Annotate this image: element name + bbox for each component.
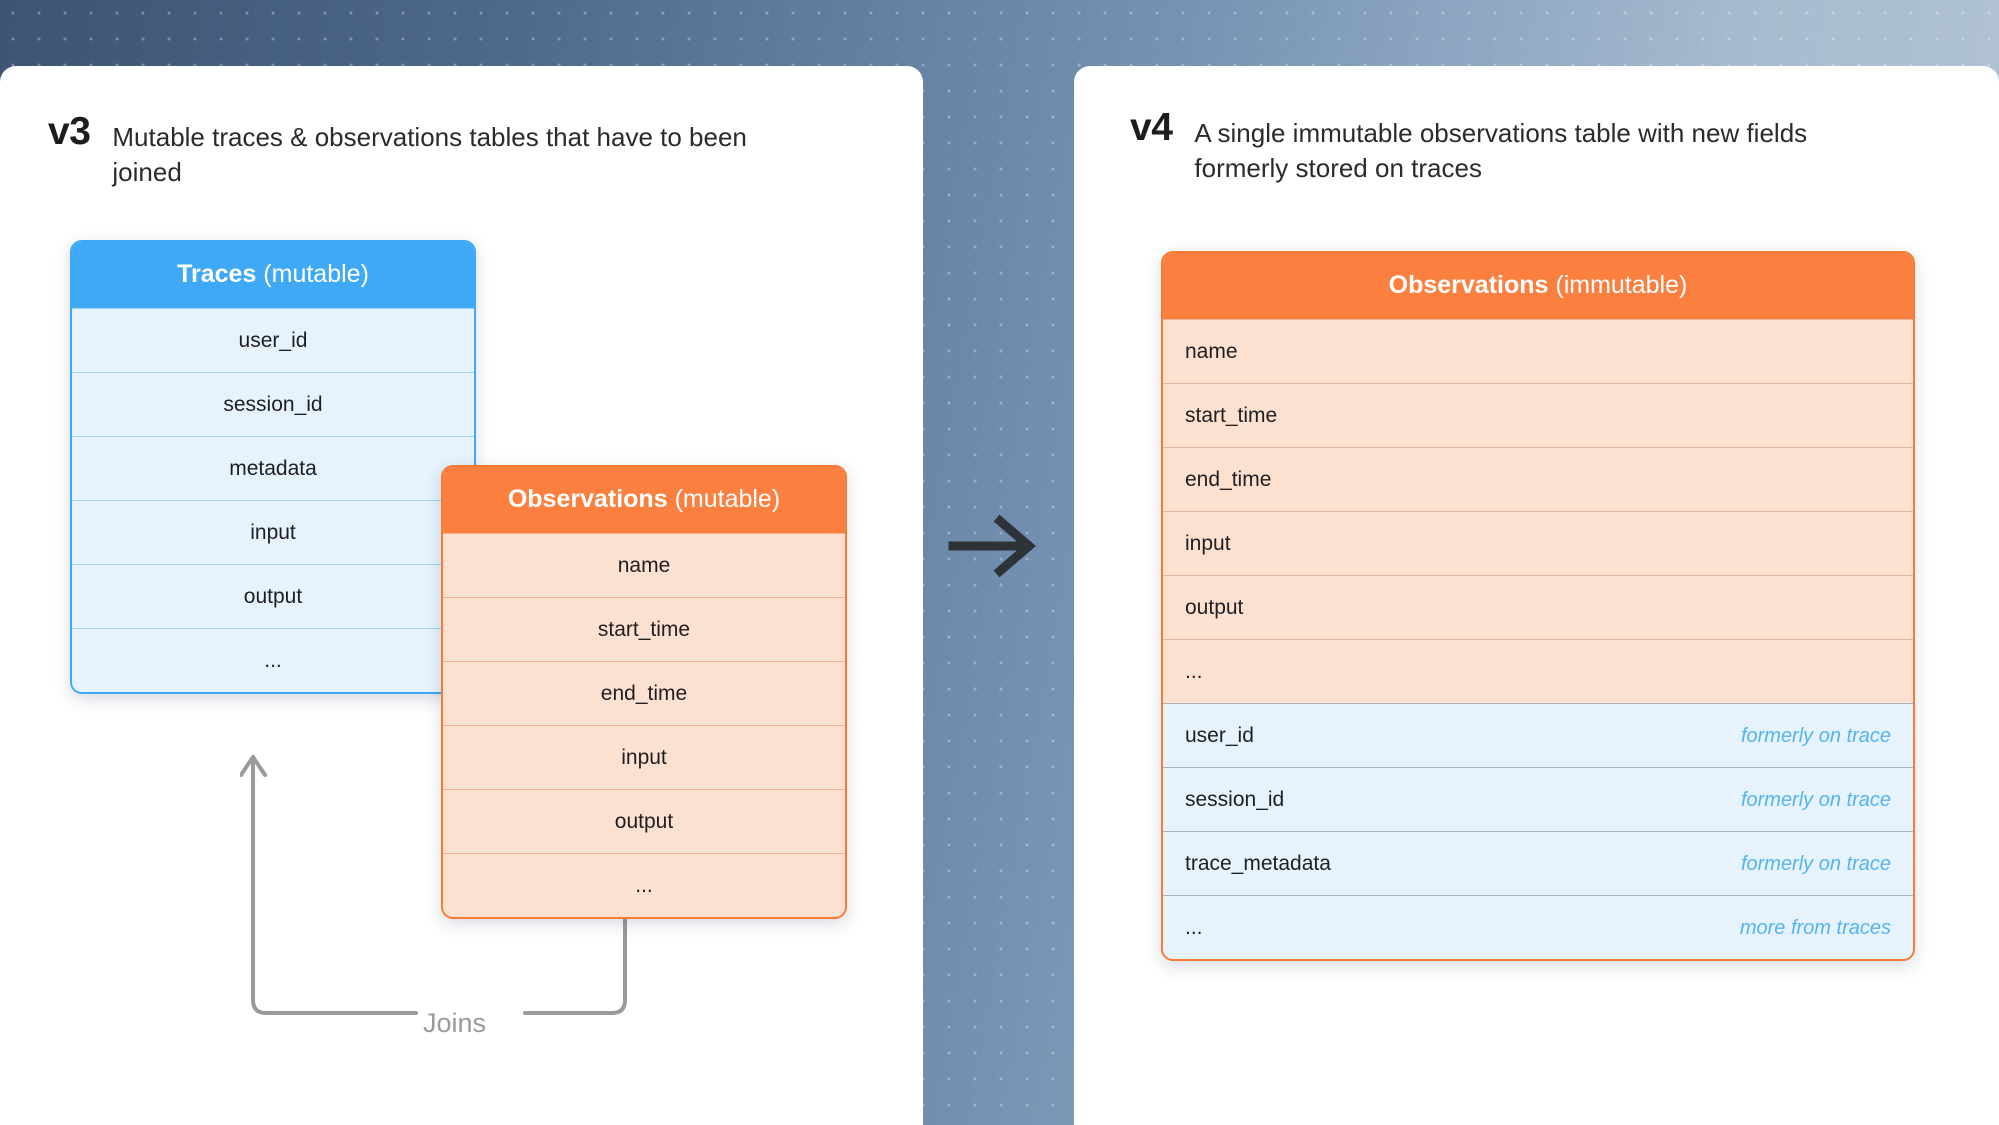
field-name: ...	[1185, 917, 1203, 938]
field-note: formerly on trace	[1741, 854, 1891, 874]
table-row: input	[1163, 511, 1913, 575]
table-row: output	[443, 789, 845, 853]
traces-table-title: Traces	[177, 260, 256, 288]
traces-table-mutability: (mutable)	[263, 260, 369, 288]
field-note: more from traces	[1740, 918, 1891, 938]
field-name: session_id	[1185, 789, 1284, 810]
table-row: name	[443, 533, 845, 597]
table-row: ...	[1163, 639, 1913, 703]
field-name: trace_metadata	[1185, 853, 1331, 874]
joins-left-line	[253, 757, 416, 1013]
v4-description: A single immutable observations table wi…	[1194, 108, 1894, 185]
observations-immutable-mutability: (immutable)	[1555, 271, 1687, 299]
v3-heading: v3 Mutable traces & observations tables …	[48, 112, 812, 189]
observations-mutable-table: Observations (mutable) name start_time e…	[441, 465, 847, 919]
observations-mutable-header: Observations (mutable)	[443, 467, 845, 533]
table-row: session_id	[72, 372, 474, 436]
observations-mutable-mutability: (mutable)	[675, 485, 781, 513]
table-row: user_id	[72, 308, 474, 372]
traces-table-header: Traces (mutable)	[72, 242, 474, 308]
table-row: ...	[72, 628, 474, 692]
v3-version-tag: v3	[48, 112, 90, 151]
field-name: end_time	[1185, 469, 1271, 490]
table-row: name	[1163, 319, 1913, 383]
v3-description: Mutable traces & observations tables tha…	[112, 112, 812, 189]
observations-mutable-title: Observations	[508, 485, 668, 513]
table-row: ...	[443, 853, 845, 917]
joins-label: Joins	[423, 1010, 486, 1037]
v4-version-tag: v4	[1130, 108, 1172, 147]
field-name: name	[1185, 341, 1238, 362]
field-note: formerly on trace	[1741, 726, 1891, 746]
table-row: output	[72, 564, 474, 628]
field-name: input	[1185, 533, 1231, 554]
arrow-right-icon	[945, 513, 1041, 579]
table-row: start_time	[443, 597, 845, 661]
observations-immutable-title: Observations	[1389, 271, 1549, 299]
table-row: end_time	[443, 661, 845, 725]
field-name: ...	[1185, 661, 1203, 682]
field-name: start_time	[1185, 405, 1277, 426]
v4-heading: v4 A single immutable observations table…	[1130, 108, 1894, 185]
field-name: user_id	[1185, 725, 1254, 746]
field-note: formerly on trace	[1741, 790, 1891, 810]
table-row: ... more from traces	[1163, 895, 1913, 959]
observations-immutable-table: Observations (immutable) name start_time…	[1161, 251, 1915, 961]
table-row: start_time	[1163, 383, 1913, 447]
table-row: session_id formerly on trace	[1163, 767, 1913, 831]
table-row: input	[72, 500, 474, 564]
observations-immutable-header: Observations (immutable)	[1163, 253, 1913, 319]
table-row: trace_metadata formerly on trace	[1163, 831, 1913, 895]
table-row: output	[1163, 575, 1913, 639]
table-row: input	[443, 725, 845, 789]
table-row: end_time	[1163, 447, 1913, 511]
table-row: metadata	[72, 436, 474, 500]
traces-table: Traces (mutable) user_id session_id meta…	[70, 240, 476, 694]
field-name: output	[1185, 597, 1243, 618]
table-row: user_id formerly on trace	[1163, 703, 1913, 767]
